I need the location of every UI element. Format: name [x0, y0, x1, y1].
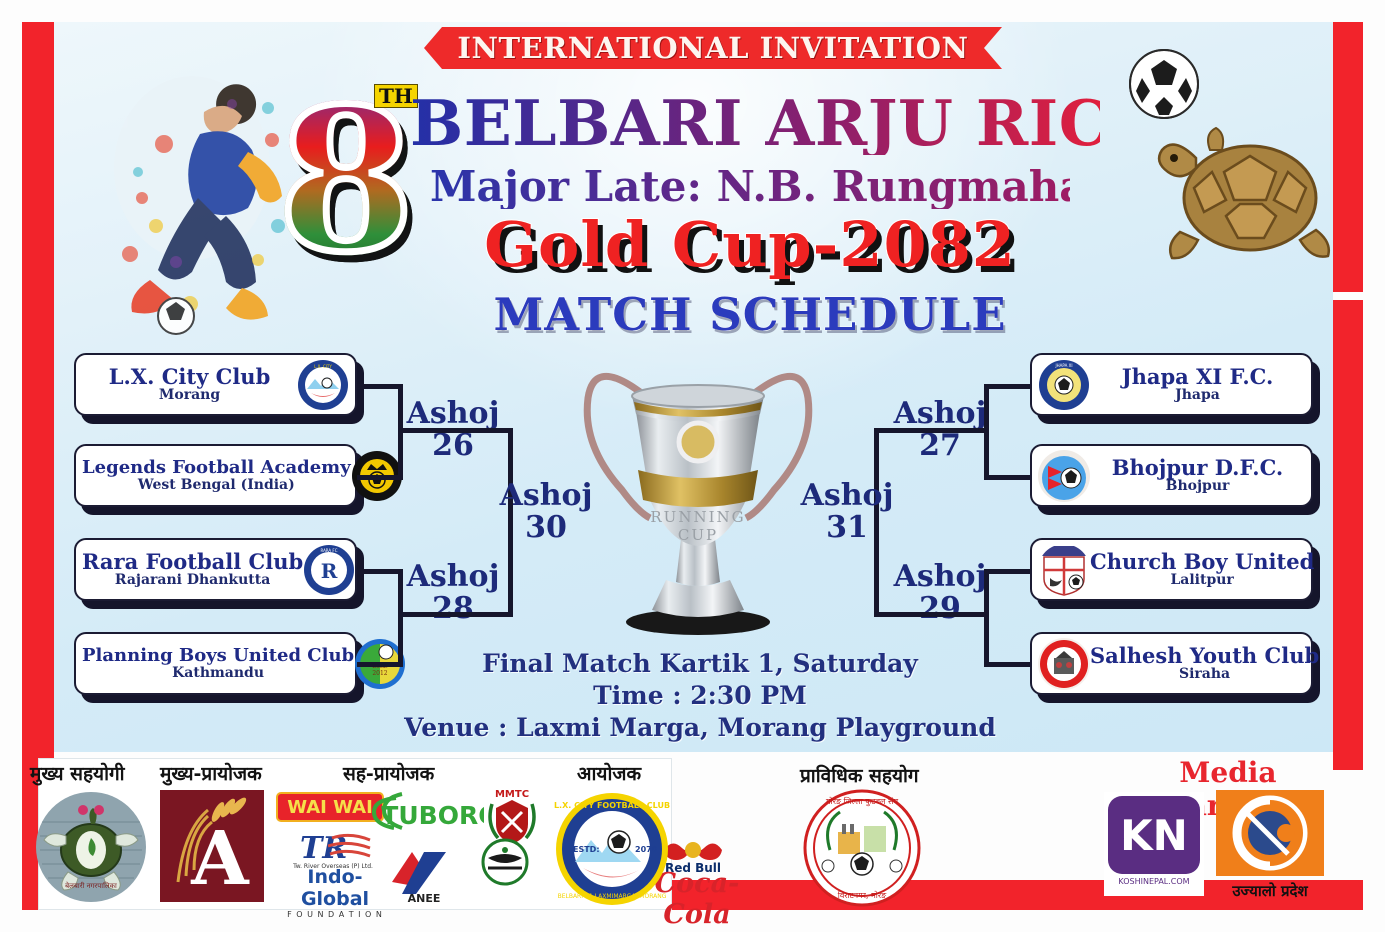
- invitation-banner: INTERNATIONAL INVITATION: [424, 27, 1002, 69]
- team-name: Bhojpur D.F.C.: [1090, 457, 1305, 479]
- koshi-nepal-logo: KN KOSHINEPAL.COM: [1104, 792, 1204, 896]
- lx-city-football-club-logo: L.X. CITY FOOTBALL CLUB ESTD: 2070 BELBA…: [553, 790, 671, 908]
- table-row[interactable]: Church Boy United Lalitpur: [1030, 538, 1313, 601]
- morang-district-football-association-logo: मोरङ जिल्ला फुटबल संघ विराटनगर, मोरङ: [802, 788, 922, 908]
- svg-text:JHAPA XI: JHAPA XI: [1054, 363, 1072, 368]
- team-name: Salhesh Youth Club: [1090, 645, 1319, 667]
- bracket-line: [874, 612, 986, 617]
- frame-bar-right: [1333, 300, 1363, 770]
- svg-text:L.X. CITY FOOTBALL CLUB: L.X. CITY FOOTBALL CLUB: [554, 801, 670, 810]
- team-name: Church Boy United: [1090, 551, 1314, 573]
- bracket-line: [357, 569, 403, 574]
- church-boy-united-crest: [1038, 544, 1090, 596]
- football-player-illustration: [72, 48, 312, 338]
- team-location: Jhapa: [1090, 388, 1305, 403]
- tr-river-logo: TR Tw. River Overseas (P) Ltd.: [274, 826, 392, 870]
- bracket-line: [357, 662, 403, 667]
- tournament-poster: INTERNATIONAL INVITATION 8 TH BELBARI AR…: [0, 0, 1385, 932]
- tournament-subtitle: Major Late: N.B. Rungmahan: [430, 165, 1070, 209]
- team-location: Bhojpur: [1090, 479, 1305, 494]
- svg-text:2012: 2012: [373, 670, 388, 677]
- team-location: Lalitpur: [1090, 573, 1314, 588]
- bhojpur-dfc-crest: [1038, 450, 1090, 502]
- edition-number: 8: [278, 86, 414, 276]
- team-location: Siraha: [1090, 667, 1319, 682]
- arju-rice-logo: A: [160, 790, 264, 902]
- bracket-line: [357, 384, 403, 389]
- tournament-title: BELBARI ARJU RICE: [410, 92, 1100, 155]
- table-row[interactable]: Planning Boys United Club Kathmandu Estd…: [74, 632, 357, 695]
- svg-text:TUBORG: TUBORG: [381, 801, 484, 830]
- sponsor-heading-organizer: आयोजक: [577, 760, 641, 786]
- team-name: Legends Football Academy: [82, 459, 351, 478]
- ujyalo-pradesh-logo: उज्यालो प्रदेश: [1216, 790, 1324, 902]
- svg-text:2070: 2070: [635, 845, 658, 854]
- svg-text:BELBARI-11 LAXMIMARGA, MORANG: BELBARI-11 LAXMIMARGA, MORANG: [558, 893, 667, 900]
- team-name: Jhapa XI F.C.: [1090, 366, 1305, 388]
- bracket-line: [403, 428, 513, 433]
- team-location: Morang: [82, 388, 297, 403]
- svg-text:CUP: CUP: [678, 526, 718, 544]
- lx-city-club-crest: L.X. CITY: [297, 359, 349, 411]
- table-row[interactable]: Rara Football Club Rajarani Dhankutta R …: [74, 538, 357, 601]
- bracket-line: [984, 475, 1030, 480]
- team-location: Kathmandu: [82, 666, 354, 681]
- final-venue: Venue : Laxmi Marga, Morang Playground: [400, 712, 1000, 744]
- table-row[interactable]: Legends Football Academy West Bengal (In…: [74, 444, 357, 507]
- salhesh-youth-club-crest: [1038, 638, 1090, 690]
- arju-rice-letter: A: [190, 816, 250, 902]
- svg-text:RUNNING: RUNNING: [650, 508, 745, 526]
- team-location: Rajarani Dhankutta: [82, 573, 303, 588]
- svg-text:ESTD:: ESTD:: [573, 845, 600, 854]
- sponsor-heading-co-sponsor: सह-प्रायोजक: [343, 760, 434, 786]
- bracket-line: [403, 612, 513, 617]
- anee-logo: ANEE: [378, 840, 470, 906]
- svg-text:MMTC: MMTC: [495, 789, 529, 800]
- team-name: Rara Football Club: [82, 551, 303, 573]
- bracket-line: [874, 428, 986, 433]
- jhapa-xi-fc-crest: JHAPA XI: [1038, 359, 1090, 411]
- bracket-line: [984, 384, 1030, 389]
- final-match-info: Final Match Kartik 1, Saturday Time : 2:…: [400, 648, 1000, 744]
- svg-text:RARA FC: RARA FC: [321, 548, 338, 553]
- trophy-illustration: RUNNING CUP: [578, 330, 818, 660]
- sponsor-heading-main-supporter: मुख्य सहयोगी: [30, 760, 125, 786]
- team-name: L.X. City Club: [82, 366, 297, 388]
- table-row[interactable]: L.X. City Club Morang L.X. CITY: [74, 353, 357, 416]
- bracket-line: [984, 569, 1030, 574]
- bracket-line: [357, 475, 403, 480]
- nepal-army-logo: [462, 838, 548, 886]
- svg-text:R: R: [321, 559, 338, 583]
- svg-text:विराटनगर, मोरङ: विराटनगर, मोरङ: [838, 890, 887, 900]
- table-row[interactable]: Salhesh Youth Club Siraha: [1030, 632, 1313, 695]
- svg-text:L.X. CITY: L.X. CITY: [314, 364, 332, 369]
- rara-football-club-crest: R RARA FC: [303, 544, 355, 596]
- table-row[interactable]: JHAPA XI Jhapa XI F.C. Jhapa: [1030, 353, 1313, 416]
- team-location: West Bengal (India): [82, 478, 351, 493]
- team-name: Planning Boys United Club: [82, 647, 354, 666]
- table-row[interactable]: Bhojpur D.F.C. Bhojpur: [1030, 444, 1313, 507]
- sponsor-heading-main-sponsor: मुख्य-प्रायोजक: [160, 760, 262, 786]
- turtle-illustration: [1152, 98, 1342, 288]
- final-time: Time : 2:30 PM: [400, 680, 1000, 712]
- final-date: Final Match Kartik 1, Saturday: [400, 648, 1000, 680]
- svg-text:ANEE: ANEE: [408, 892, 441, 905]
- svg-text:मोरङ जिल्ला फुटबल संघ: मोरङ जिल्ला फुटबल संघ: [826, 796, 899, 807]
- logo-caption: बेलबारी नगरपालिका: [65, 881, 117, 890]
- banner-text: INTERNATIONAL INVITATION: [457, 31, 968, 65]
- cup-title: Gold Cup-2082: [430, 212, 1070, 277]
- belbari-municipality-turtle-logo: बेलबारी नगरपालिका: [32, 788, 150, 906]
- edition-badge: 8 TH: [278, 78, 410, 288]
- sponsor-heading-technical-support: प्राविधिक सहयोग: [800, 762, 919, 788]
